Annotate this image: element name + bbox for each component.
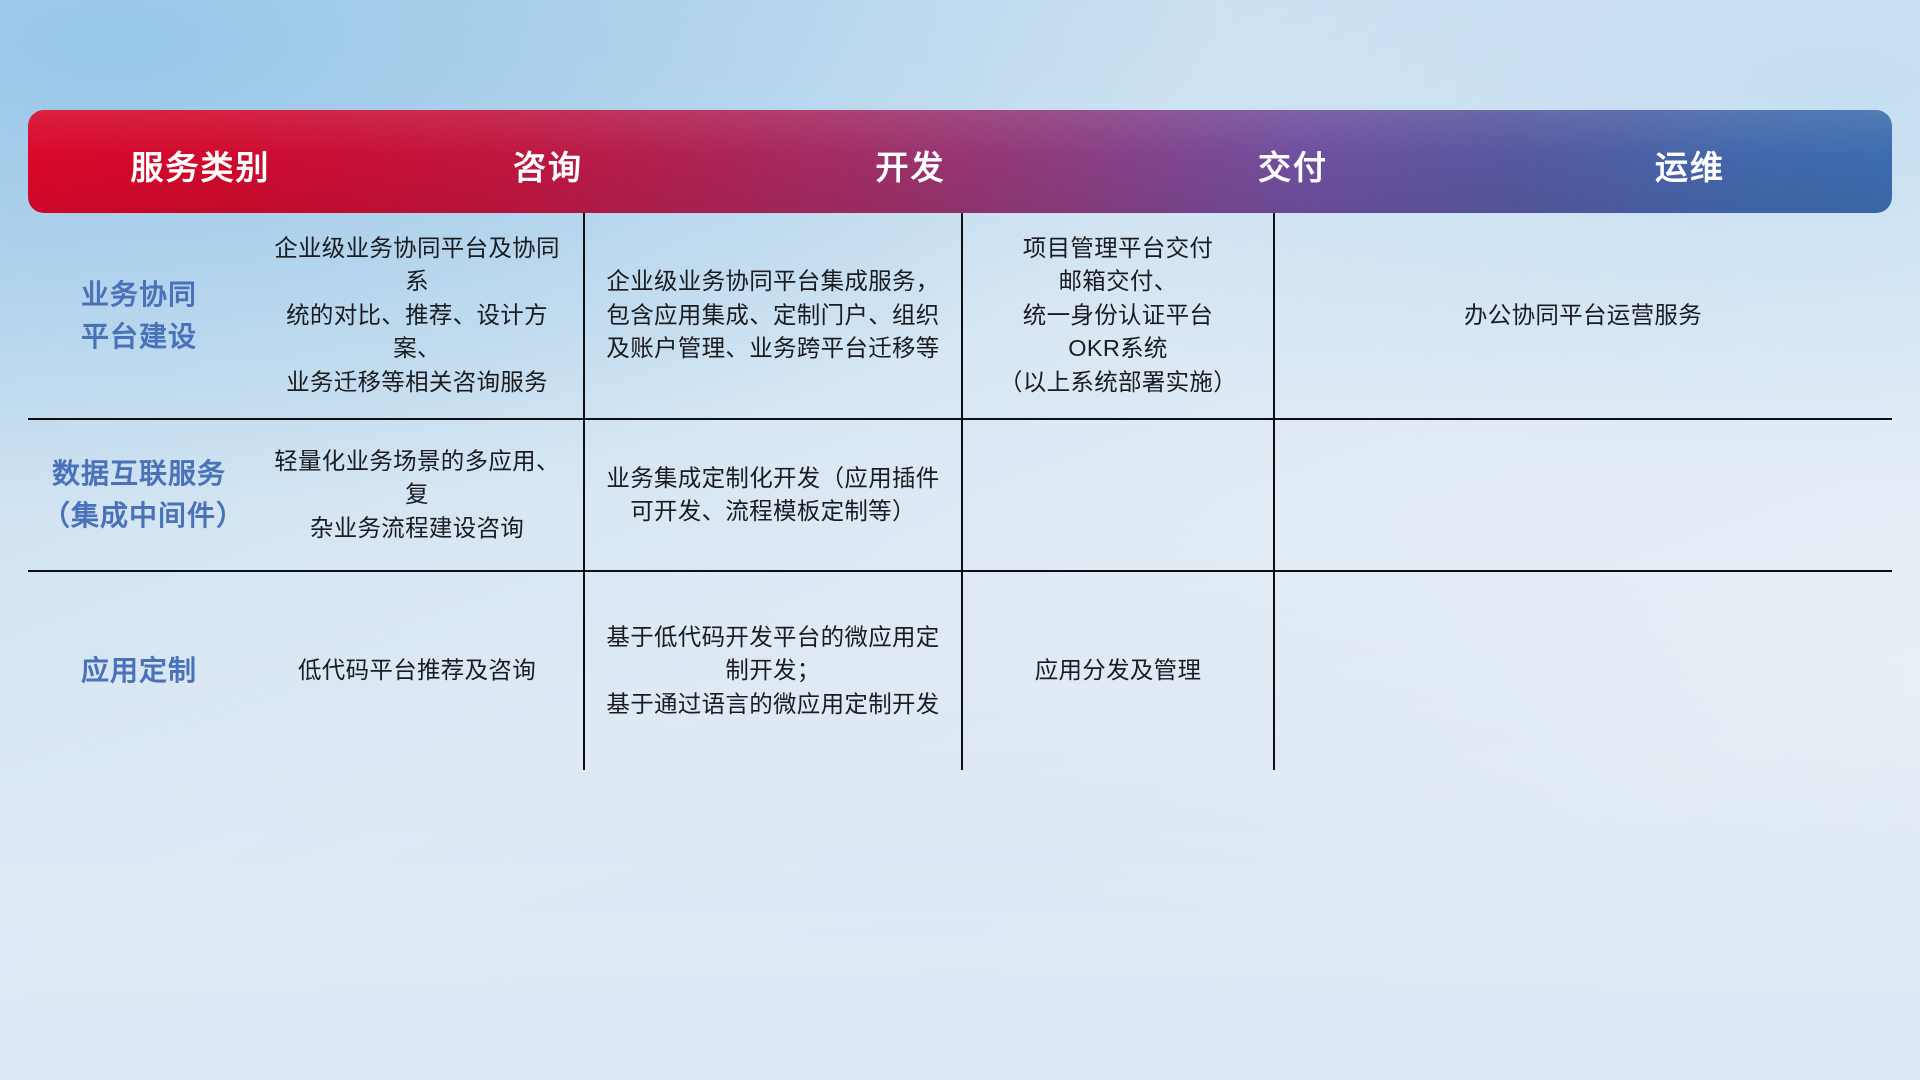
column-header-delivery: 交付	[1098, 110, 1488, 213]
cell-consulting: 企业级业务协同平台及协同系 统的对比、推荐、设计方案、 业务迁移等相关咨询服务	[250, 213, 584, 418]
row-category-label: 应用定制	[28, 572, 250, 770]
column-header-consulting: 咨询	[373, 110, 723, 213]
cell-operations	[1274, 420, 1892, 570]
column-header-service-category: 服务类别	[28, 110, 373, 213]
table-row: 数据互联服务 （集成中间件） 轻量化业务场景的多应用、复 杂业务流程建设咨询 业…	[28, 418, 1892, 570]
row-category-label: 数据互联服务 （集成中间件）	[28, 420, 250, 570]
cell-operations	[1274, 572, 1892, 770]
slide-canvas: 服务类别 咨询 开发 交付 运维 业务协同 平台建设 企业级业务协同平台及协同系…	[0, 0, 1920, 1080]
table-row: 业务协同 平台建设 企业级业务协同平台及协同系 统的对比、推荐、设计方案、 业务…	[28, 213, 1892, 418]
table-body: 业务协同 平台建设 企业级业务协同平台及协同系 统的对比、推荐、设计方案、 业务…	[28, 213, 1892, 770]
cell-development: 企业级业务协同平台集成服务， 包含应用集成、定制门户、组织 及账户管理、业务跨平…	[584, 213, 962, 418]
cell-development: 业务集成定制化开发（应用插件 可开发、流程模板定制等）	[584, 420, 962, 570]
cell-consulting: 低代码平台推荐及咨询	[250, 572, 584, 770]
table-row: 应用定制 低代码平台推荐及咨询 基于低代码开发平台的微应用定 制开发； 基于通过…	[28, 570, 1892, 770]
table-header-row: 服务类别 咨询 开发 交付 运维	[28, 110, 1892, 213]
cell-development: 基于低代码开发平台的微应用定 制开发； 基于通过语言的微应用定制开发	[584, 572, 962, 770]
column-header-development: 开发	[723, 110, 1098, 213]
cell-operations: 办公协同平台运营服务	[1274, 213, 1892, 418]
cell-delivery: 项目管理平台交付 邮箱交付、 统一身份认证平台 OKR系统 （以上系统部署实施）	[962, 213, 1274, 418]
cell-delivery: 应用分发及管理	[962, 572, 1274, 770]
cell-consulting: 轻量化业务场景的多应用、复 杂业务流程建设咨询	[250, 420, 584, 570]
row-category-label: 业务协同 平台建设	[28, 213, 250, 418]
column-header-operations: 运维	[1488, 110, 1892, 213]
cell-delivery	[962, 420, 1274, 570]
service-matrix-table: 服务类别 咨询 开发 交付 运维 业务协同 平台建设 企业级业务协同平台及协同系…	[28, 110, 1892, 770]
